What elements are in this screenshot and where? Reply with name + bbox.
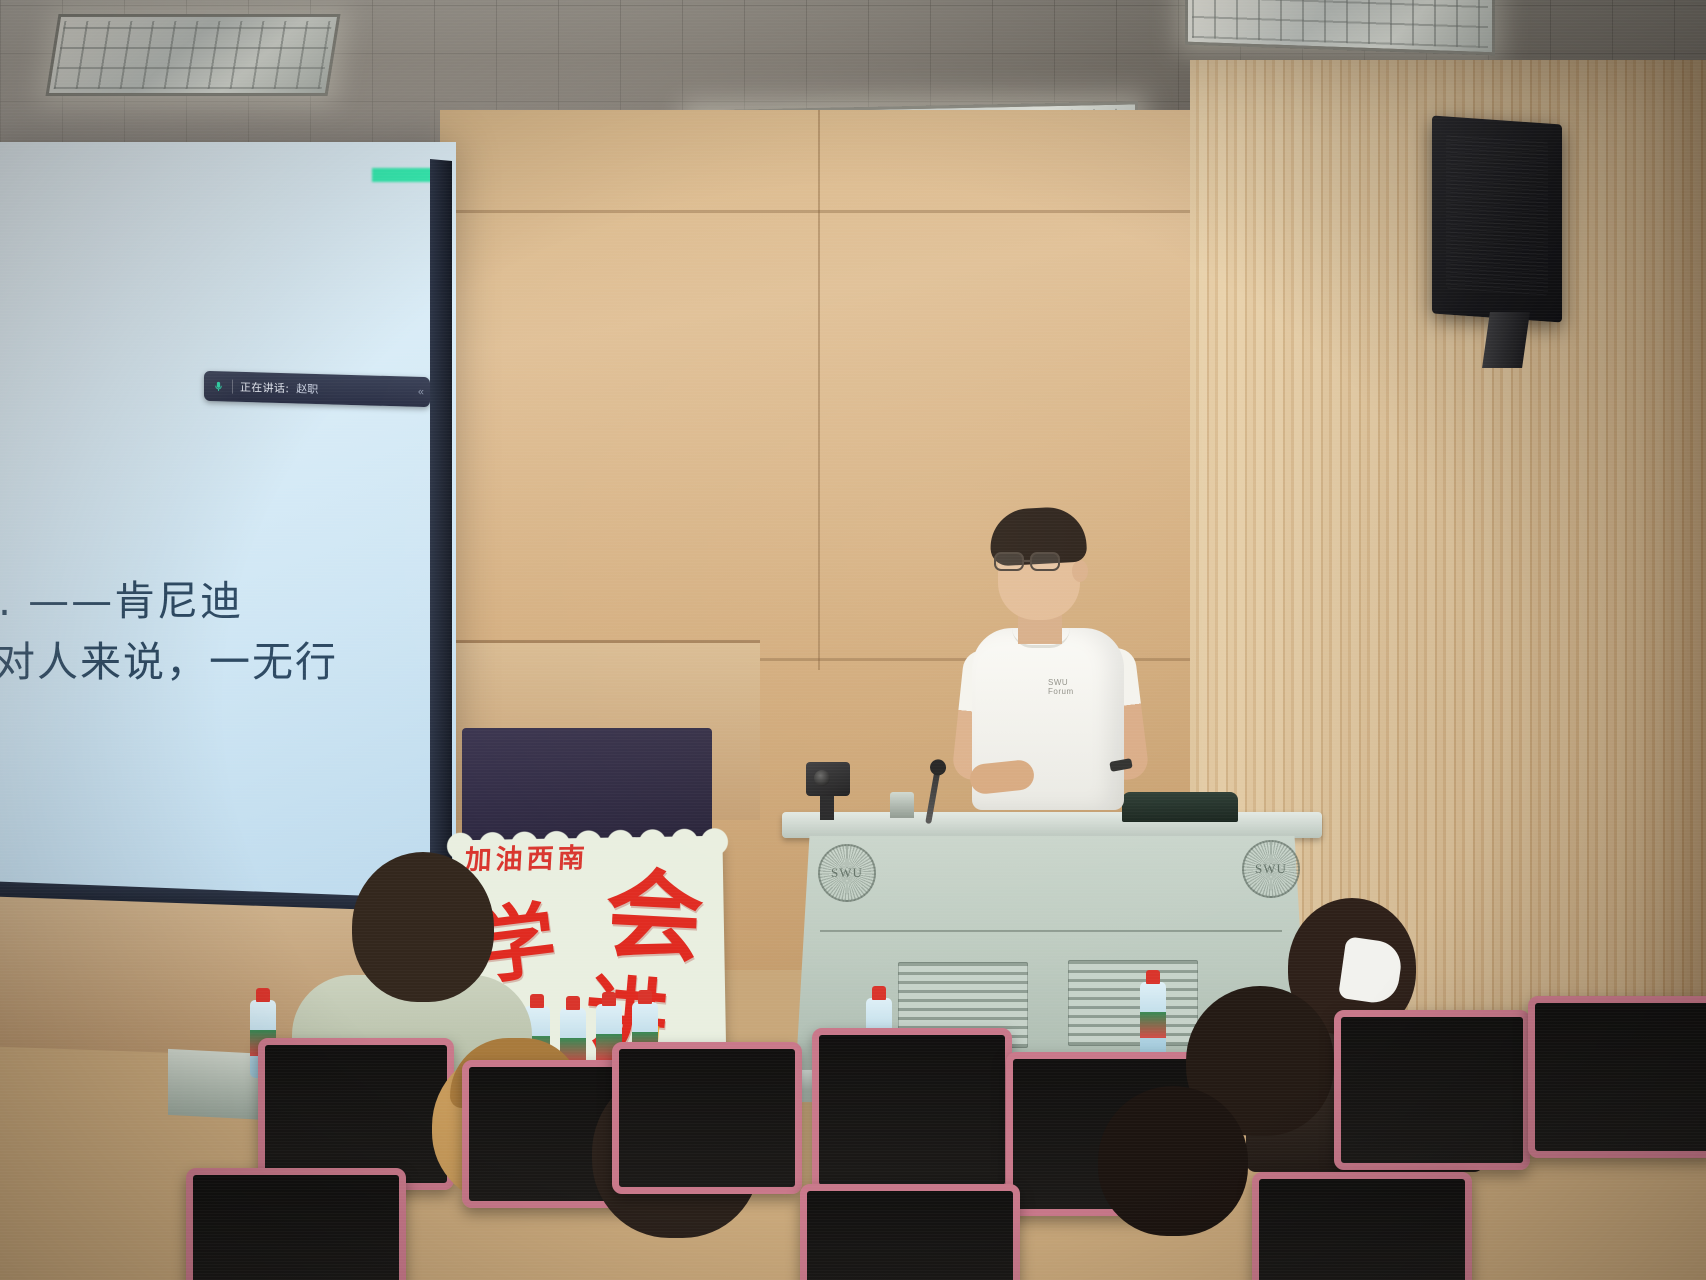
audience-member-head bbox=[1098, 1086, 1248, 1236]
screen-frame-right bbox=[430, 159, 452, 921]
active-speaker-name: 赵职 bbox=[296, 380, 318, 397]
bottle-cap bbox=[566, 996, 580, 1010]
podium-vent-right bbox=[1068, 960, 1198, 1046]
bottle-cap bbox=[256, 988, 270, 1002]
auditorium-chair bbox=[812, 1028, 1012, 1192]
audience-member-head bbox=[352, 852, 494, 1002]
projection-screen: 正在讲话: 赵职 « g. ——肯尼迪 对人来说，一无行 西南大学 Southw… bbox=[0, 142, 456, 922]
wall-speaker-bracket-icon bbox=[1482, 312, 1530, 368]
auditorium-chair bbox=[186, 1168, 406, 1280]
presenter-glasses-icon bbox=[994, 552, 1080, 572]
podium-emblem-left-icon bbox=[818, 844, 876, 902]
bottle-cap bbox=[872, 986, 886, 1000]
ceiling-light-panel-left bbox=[46, 14, 341, 96]
screen-glare bbox=[0, 142, 456, 922]
auditorium-chair bbox=[1334, 1010, 1530, 1170]
bottle-cap bbox=[530, 994, 544, 1008]
glasses-lens-left bbox=[994, 552, 1024, 571]
banner-char-2: 会 bbox=[602, 870, 707, 965]
auditorium-chair bbox=[800, 1184, 1020, 1280]
microphone-base bbox=[890, 792, 914, 818]
overlay-divider bbox=[232, 380, 233, 394]
camera-stand bbox=[820, 794, 834, 820]
glasses-lens-right bbox=[1030, 552, 1060, 571]
bottle-cap bbox=[602, 992, 616, 1006]
double-chevron-left-icon[interactable]: « bbox=[418, 386, 422, 398]
wall-panel-seam bbox=[818, 110, 820, 670]
screen-edge-glow bbox=[372, 168, 438, 182]
slide-text-line-1: g. ——肯尼迪 bbox=[0, 567, 243, 627]
meeting-speaking-overlay-bar[interactable]: 正在讲话: 赵职 « bbox=[204, 371, 430, 407]
bottle-cap bbox=[638, 990, 652, 1004]
podium-emblem-right-icon bbox=[1242, 840, 1300, 898]
presenter: SWU Forum bbox=[960, 500, 1170, 830]
bottle-label bbox=[1140, 1012, 1166, 1038]
podium-panel-seam bbox=[820, 930, 1282, 932]
wall-horizontal-seam bbox=[440, 210, 1200, 213]
slide-text-line-2: 对人来说，一无行 bbox=[0, 628, 338, 688]
auditorium-chair bbox=[1528, 996, 1706, 1158]
water-bottle bbox=[1140, 982, 1166, 1060]
camera-icon bbox=[806, 762, 850, 796]
wall-speaker bbox=[1432, 115, 1562, 322]
speaking-status-label: 正在讲话: bbox=[240, 379, 289, 396]
presenter-shirt-logo: SWU Forum bbox=[1048, 678, 1094, 688]
auditorium-chair bbox=[1252, 1172, 1472, 1280]
auditorium-chair bbox=[612, 1042, 802, 1194]
microphone-icon bbox=[212, 380, 225, 393]
bottle-cap bbox=[1146, 970, 1160, 984]
lecture-hall-photo: 正在讲话: 赵职 « g. ——肯尼迪 对人来说，一无行 西南大学 Southw… bbox=[0, 0, 1706, 1280]
